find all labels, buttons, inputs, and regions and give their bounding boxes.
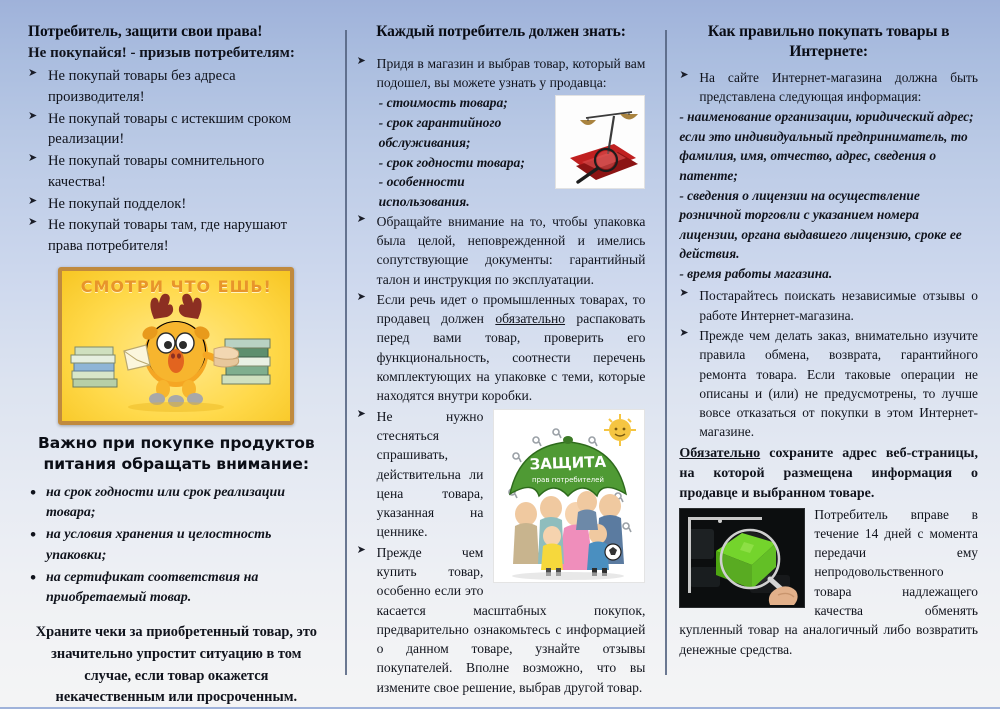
middle-column-paragraph-industrial: Если речь идет о промышленных товарах, т…: [357, 290, 646, 406]
required-info-item: - сведения о лицензии на осуществление р…: [679, 186, 978, 264]
emphasis-obligatory: обязательно: [495, 311, 565, 326]
magnifier-package-image: [679, 508, 805, 608]
left-column-warning-list: Не покупай товары без адреса производите…: [28, 66, 325, 256]
list-item: Не покупай товары без адреса производите…: [28, 66, 325, 107]
right-column-paragraph: Постарайтесь поискать независимые отзывы…: [679, 286, 978, 325]
left-column-section-heading: Важно при покупке продуктов питания обра…: [28, 433, 325, 475]
right-column-intro: На сайте Интернет-магазина должна быть п…: [679, 68, 978, 107]
right-column-paragraph: Прежде чем делать заказ, внимательно изу…: [679, 326, 978, 442]
list-item: на сертификат соответствия на приобретае…: [28, 568, 325, 609]
left-column-title: Потребитель, защити свои права!: [28, 22, 325, 42]
list-item: на условия хранения и целостность упаков…: [28, 525, 325, 566]
list-item: Не покупай товары там, где нарушают прав…: [28, 215, 325, 256]
required-info-item: - наименование организации, юридический …: [679, 107, 978, 185]
brochure-sheet: Потребитель, защити свои права! Не покуп…: [0, 0, 1000, 707]
middle-column-title: Каждый потребитель должен знать:: [357, 22, 646, 42]
moose-illustration-icon: [62, 271, 290, 421]
scales-of-justice-image: [555, 95, 645, 189]
moose-poster-image: СМОТРИ ЧТО ЕШЬ!: [58, 267, 294, 425]
left-column: Потребитель, защити свои права! Не покуп…: [10, 22, 339, 697]
emphasis-obligatory: Обязательно: [679, 446, 760, 461]
magnifying-glass-package-icon: [680, 509, 804, 607]
right-column-highlight: Обязательно сохраните адрес веб-страницы…: [679, 444, 978, 505]
middle-column: Каждый потребитель должен знать: Придя в…: [339, 22, 662, 697]
middle-column-paragraph: Не нужно стесняться спрашивать, действит…: [357, 407, 646, 542]
list-item: Не покупай товары с истекшим сроком реал…: [28, 109, 325, 150]
middle-column-paragraph: Прежде чем купить товар, особенно если э…: [357, 543, 646, 697]
list-item: Не покупай товары сомнительного качества…: [28, 151, 325, 192]
right-column: Как правильно покупать товары в Интернет…: [661, 22, 990, 697]
middle-column-intro: Придя в магазин и выбрав товар, который …: [357, 54, 646, 93]
list-item: на срок годности или срок реализации тов…: [28, 483, 325, 524]
food-purchase-bullets: на срок годности или срок реализации тов…: [28, 483, 325, 609]
left-column-closing-note: Храните чеки за приобретенный товар, это…: [28, 622, 325, 708]
required-info-item: - время работы магазина.: [679, 264, 978, 284]
left-column-subtitle: Не покупайся! - призыв потребителям:: [28, 44, 325, 64]
right-column-title: Как правильно покупать товары в Интернет…: [679, 22, 978, 62]
scales-of-justice-icon: [556, 96, 644, 188]
list-item: Не покупай подделок!: [28, 194, 325, 215]
middle-column-paragraph: Обращайте внимание на то, чтобы упаковка…: [357, 212, 646, 289]
